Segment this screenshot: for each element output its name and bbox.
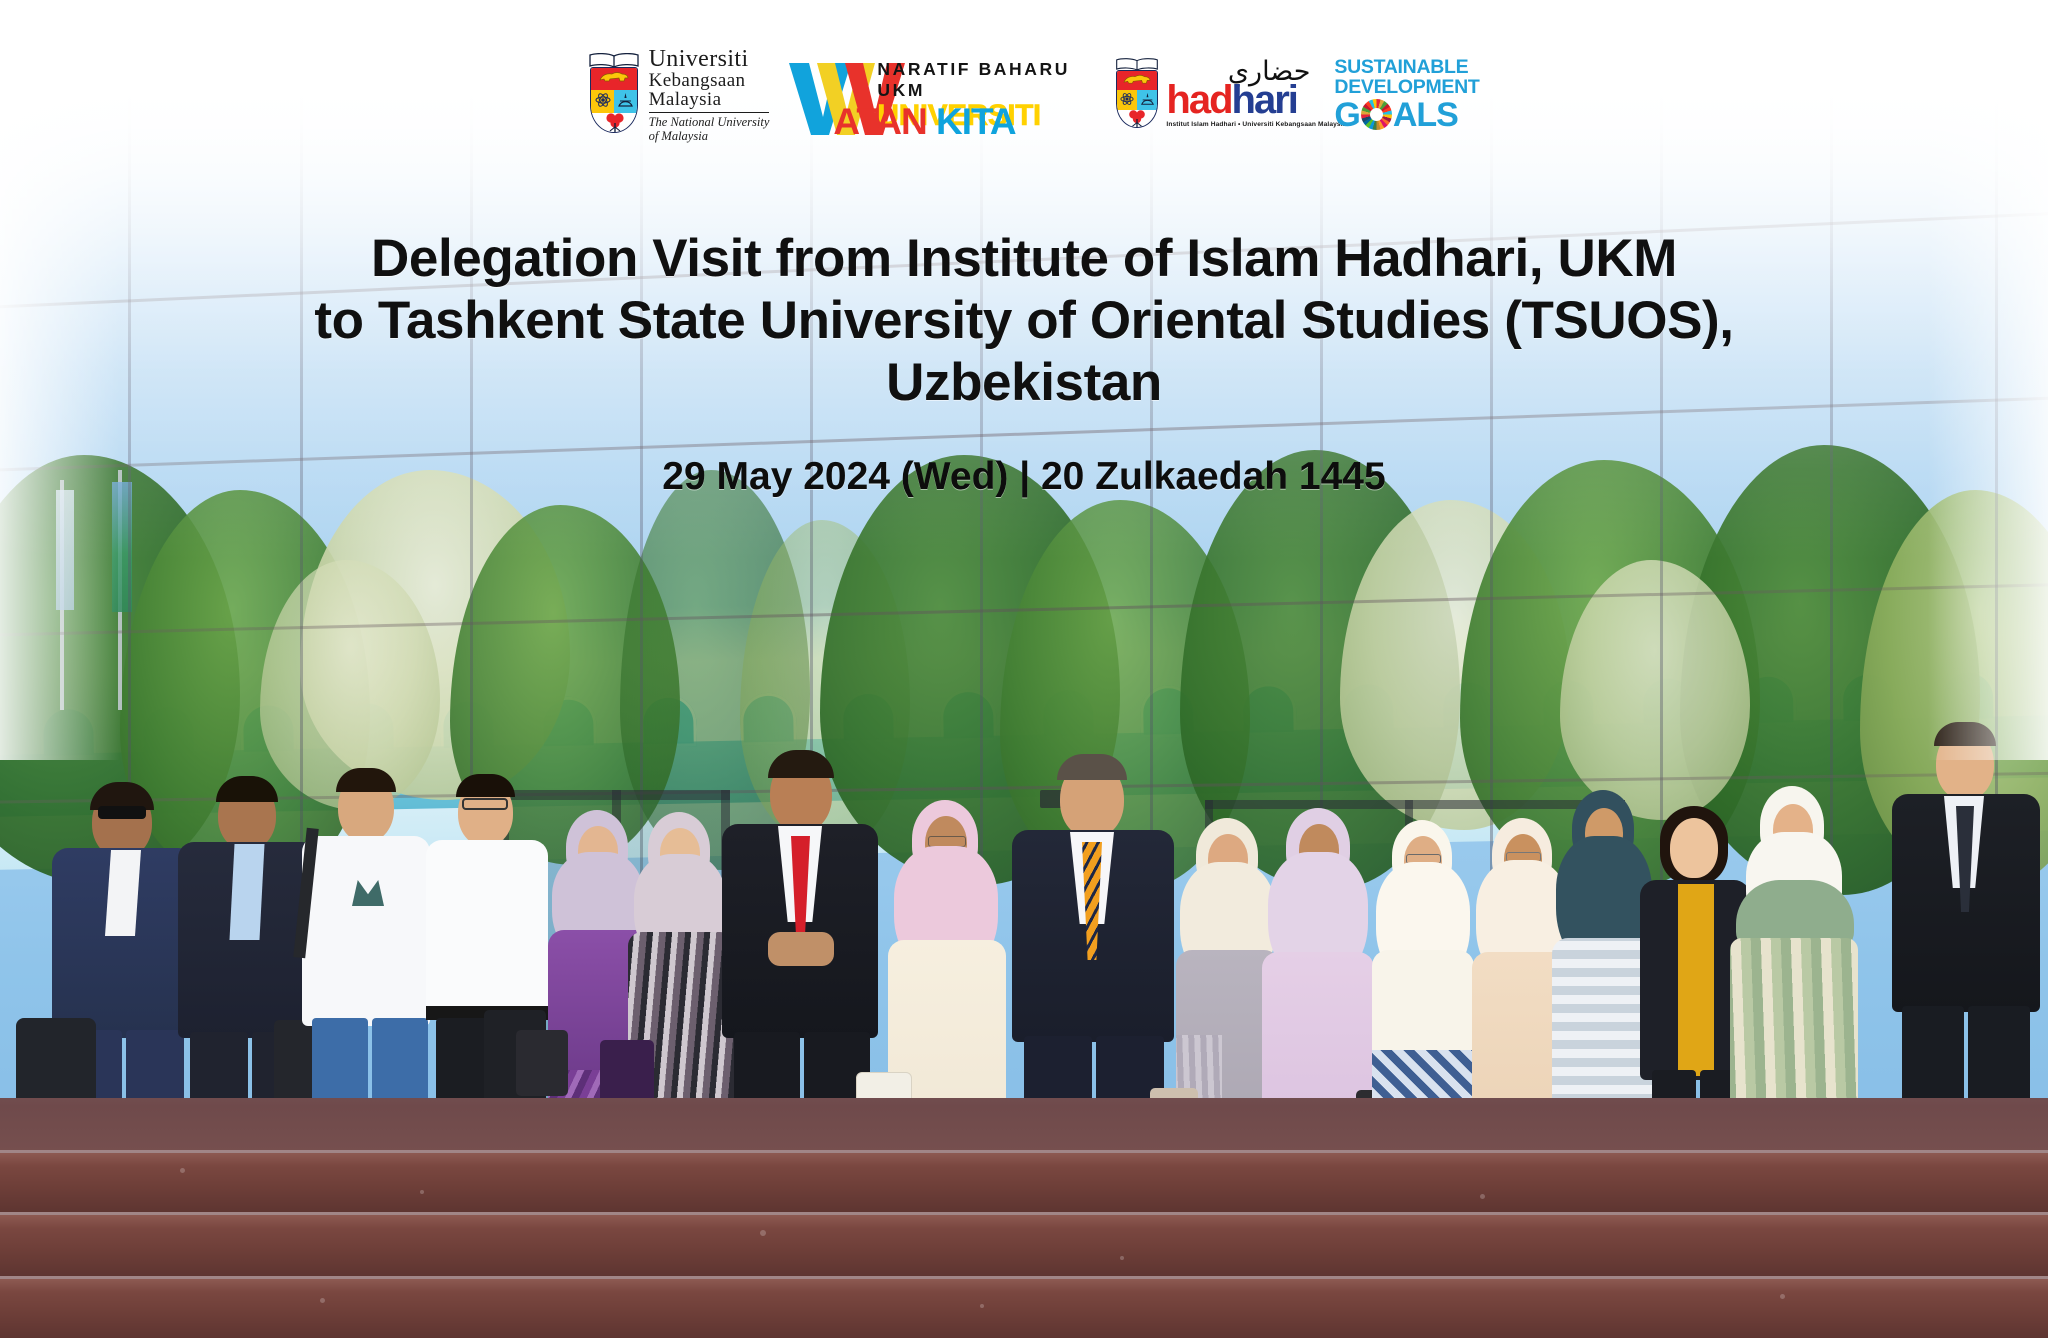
hadhari-atom-icon [1120, 92, 1134, 106]
sdg-line3: G ALS [1334, 98, 1462, 132]
sdg-g: G [1334, 98, 1359, 132]
hadhari-gear-keris-icon [1140, 92, 1155, 106]
watan-kicker: NARATIF BAHARU UKM [877, 59, 1095, 101]
hadhari-had: had [1166, 78, 1231, 122]
hibiscus-icon [604, 112, 626, 133]
ukm-crest-icon [586, 53, 642, 137]
atom-icon [595, 92, 611, 108]
watan-kita-bottom: ATAN KITA [833, 103, 1015, 140]
event-banner: Universiti Kebangsaan Malaysia The Natio… [0, 0, 2048, 1338]
title-line-3: Uzbekistan [0, 352, 2048, 414]
watan-kita: KITA [936, 101, 1016, 142]
hadhari-crest-icon [1113, 58, 1161, 132]
ukm-tagline-2: of Malaysia [649, 129, 770, 143]
ukm-tagline-1: The National University [649, 115, 770, 129]
event-dateline: 29 May 2024 (Wed) | 20 Zulkaedah 1445 [0, 455, 2048, 499]
background-photo [0, 0, 2048, 1338]
hadhari-wordmark: حضاري hadhari Institut Islam Hadhari • U… [1166, 58, 1316, 128]
sdg-logo: SUSTAINABLE DEVELOPMENT G ALS [1334, 58, 1462, 132]
ukm-line2: Kebangsaan [649, 71, 770, 90]
ukm-divider [649, 112, 770, 113]
ukm-line1-initial: Universiti [649, 46, 749, 72]
sdg-line2: DEVELOPMENT [1334, 78, 1462, 98]
hadhari-caption: Institut Islam Hadhari • Universiti Keba… [1166, 121, 1316, 128]
page-title: Delegation Visit from Institute of Islam… [0, 228, 2048, 414]
hadhari-hari: hari [1232, 78, 1297, 122]
ukm-wordmark: Universiti Kebangsaan Malaysia The Natio… [649, 47, 770, 143]
watan-atan: ATAN [833, 101, 926, 142]
hadhari-latin: hadhari [1166, 82, 1316, 119]
sdg-color-wheel-icon [1361, 99, 1392, 130]
ukm-line3: Malaysia [649, 90, 770, 109]
hadhari-tiger-icon [1122, 72, 1152, 85]
sdg-als: ALS [1393, 98, 1458, 132]
title-line-1: Delegation Visit from Institute of Islam… [0, 228, 2048, 290]
granite-steps [0, 1098, 2048, 1338]
title-line-2: to Tashkent State University of Oriental… [0, 290, 2048, 352]
logo-strip: Universiti Kebangsaan Malaysia The Natio… [0, 0, 2048, 190]
gear-keris-icon [617, 92, 634, 108]
ukm-logo: Universiti Kebangsaan Malaysia The Natio… [586, 47, 770, 143]
hadhari-logo: حضاري hadhari Institut Islam Hadhari • U… [1113, 58, 1316, 132]
watan-kita-logo: NARATIF BAHARU UKM UNIVERSITI ATAN KITA [787, 51, 1095, 139]
tiger-icon [598, 69, 630, 83]
hadhari-hibiscus-icon [1127, 109, 1147, 128]
open-book-icon [588, 53, 640, 68]
